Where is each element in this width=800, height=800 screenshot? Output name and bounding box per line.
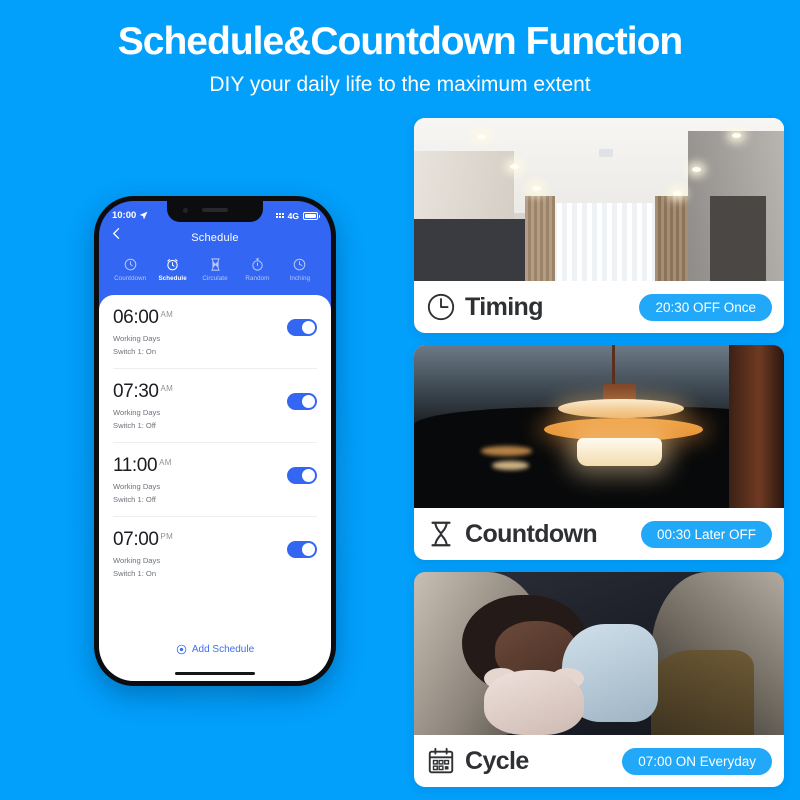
row-time-wrap: 07:30AM: [113, 382, 173, 402]
schedule-toggle[interactable]: [287, 541, 317, 558]
status-time: 10:00: [112, 210, 136, 221]
schedule-days: Working Days: [113, 482, 172, 491]
home-indicator[interactable]: [175, 672, 255, 676]
phone-mockup: 10:00 4G Schedule: [94, 196, 336, 686]
battery-icon: [303, 212, 318, 220]
stopwatch-icon: [250, 257, 265, 272]
schedule-ampm: AM: [161, 310, 174, 319]
page-title: Schedule&Countdown Function: [0, 22, 800, 63]
hourglass-icon: [208, 257, 223, 272]
tab-label: Schedule: [158, 275, 186, 282]
status-bar-left: 10:00: [112, 210, 148, 221]
status-badge: 00:30 Later OFF: [641, 521, 772, 548]
circle-plus-icon: [176, 644, 187, 655]
tab-label: Countdown: [114, 275, 146, 282]
schedule-days: Working Days: [113, 556, 173, 565]
tab-schedule[interactable]: Schedule: [151, 257, 193, 282]
schedule-switch: Switch 1: On: [113, 347, 173, 356]
row-text: 07:00PM Working Days Switch 1: On: [113, 530, 173, 578]
chevron-left-icon[interactable]: [111, 228, 122, 239]
table-row[interactable]: 07:00PM Working Days Switch 1: On: [113, 517, 317, 590]
card-title: Timing: [465, 293, 543, 322]
status-badge: 20:30 OFF Once: [639, 294, 772, 321]
schedule-rows: 06:00AM Working Days Switch 1: On 07:30A…: [99, 295, 331, 590]
tab-countdown[interactable]: Countdown: [109, 257, 151, 282]
tab-bar: Countdown Schedule Circulate: [99, 251, 331, 291]
table-row[interactable]: 07:30AM Working Days Switch 1: Off: [113, 369, 317, 443]
schedule-time: 07:30: [113, 381, 159, 402]
tab-label: Random: [245, 275, 269, 282]
signal-dots-icon: [276, 213, 284, 218]
row-text: 07:30AM Working Days Switch 1: Off: [113, 382, 173, 430]
front-camera-icon: [183, 208, 188, 213]
earpiece-speaker: [202, 208, 228, 212]
tab-random[interactable]: Random: [236, 257, 278, 282]
schedule-toggle[interactable]: [287, 393, 317, 410]
tab-label: Inching: [290, 275, 311, 282]
clock-icon: [123, 257, 138, 272]
tab-inching[interactable]: Inching: [279, 257, 321, 282]
tab-label: Circulate: [202, 275, 227, 282]
card-bar: Timing 20:30 OFF Once: [414, 281, 784, 333]
table-row[interactable]: 11:00AM Working Days Switch 1: Off: [113, 443, 317, 517]
child-sleeping-photo: [414, 572, 784, 735]
schedule-days: Working Days: [113, 408, 173, 417]
calendar-icon: [426, 746, 456, 776]
page-header: Schedule&Countdown Function DIY your dai…: [0, 0, 800, 97]
feature-card-timing[interactable]: Timing 20:30 OFF Once: [414, 118, 784, 333]
feature-cards: Timing 20:30 OFF Once Countdown 00:30 La…: [414, 118, 784, 799]
alarm-clock-icon: [165, 257, 180, 272]
app-navbar: Schedule: [99, 225, 331, 251]
add-schedule-button[interactable]: Add Schedule: [176, 644, 254, 655]
row-text: 06:00AM Working Days Switch 1: On: [113, 308, 173, 356]
page-subtitle: DIY your daily life to the maximum exten…: [0, 73, 800, 97]
clock-icon: [426, 292, 456, 322]
row-time-wrap: 11:00AM: [113, 456, 172, 476]
status-badge: 07:00 ON Everyday: [622, 748, 772, 775]
schedule-toggle[interactable]: [287, 319, 317, 336]
hourglass-icon: [426, 519, 456, 549]
schedule-list-sheet: 06:00AM Working Days Switch 1: On 07:30A…: [99, 295, 331, 681]
location-arrow-icon: [139, 211, 148, 220]
schedule-switch: Switch 1: On: [113, 569, 173, 578]
status-bar-right: 4G: [276, 211, 318, 221]
add-schedule-row: Add Schedule: [99, 644, 331, 681]
schedule-switch: Switch 1: Off: [113, 495, 172, 504]
tab-circulate[interactable]: Circulate: [194, 257, 236, 282]
schedule-time: 07:00: [113, 529, 159, 550]
add-schedule-label: Add Schedule: [192, 644, 254, 655]
schedule-ampm: AM: [159, 458, 172, 467]
card-bar: Cycle 07:00 ON Everyday: [414, 735, 784, 787]
card-title: Cycle: [465, 747, 529, 776]
schedule-time: 06:00: [113, 307, 159, 328]
living-room-photo: [414, 118, 784, 281]
row-time-wrap: 07:00PM: [113, 530, 173, 550]
schedule-ampm: AM: [161, 384, 174, 393]
timer-icon: [292, 257, 307, 272]
schedule-toggle[interactable]: [287, 467, 317, 484]
schedule-switch: Switch 1: Off: [113, 421, 173, 430]
phone-notch: [167, 201, 263, 222]
row-text: 11:00AM Working Days Switch 1: Off: [113, 456, 172, 504]
row-time-wrap: 06:00AM: [113, 308, 173, 328]
feature-card-countdown[interactable]: Countdown 00:30 Later OFF: [414, 345, 784, 560]
pendant-lamp-photo: [414, 345, 784, 508]
schedule-ampm: PM: [161, 532, 174, 541]
app-title: Schedule: [191, 232, 238, 244]
card-title: Countdown: [465, 520, 597, 549]
network-label: 4G: [288, 211, 299, 221]
schedule-days: Working Days: [113, 334, 173, 343]
card-bar: Countdown 00:30 Later OFF: [414, 508, 784, 560]
table-row[interactable]: 06:00AM Working Days Switch 1: On: [113, 295, 317, 369]
phone-screen: 10:00 4G Schedule: [99, 201, 331, 681]
schedule-time: 11:00: [113, 455, 157, 476]
feature-card-cycle[interactable]: Cycle 07:00 ON Everyday: [414, 572, 784, 787]
